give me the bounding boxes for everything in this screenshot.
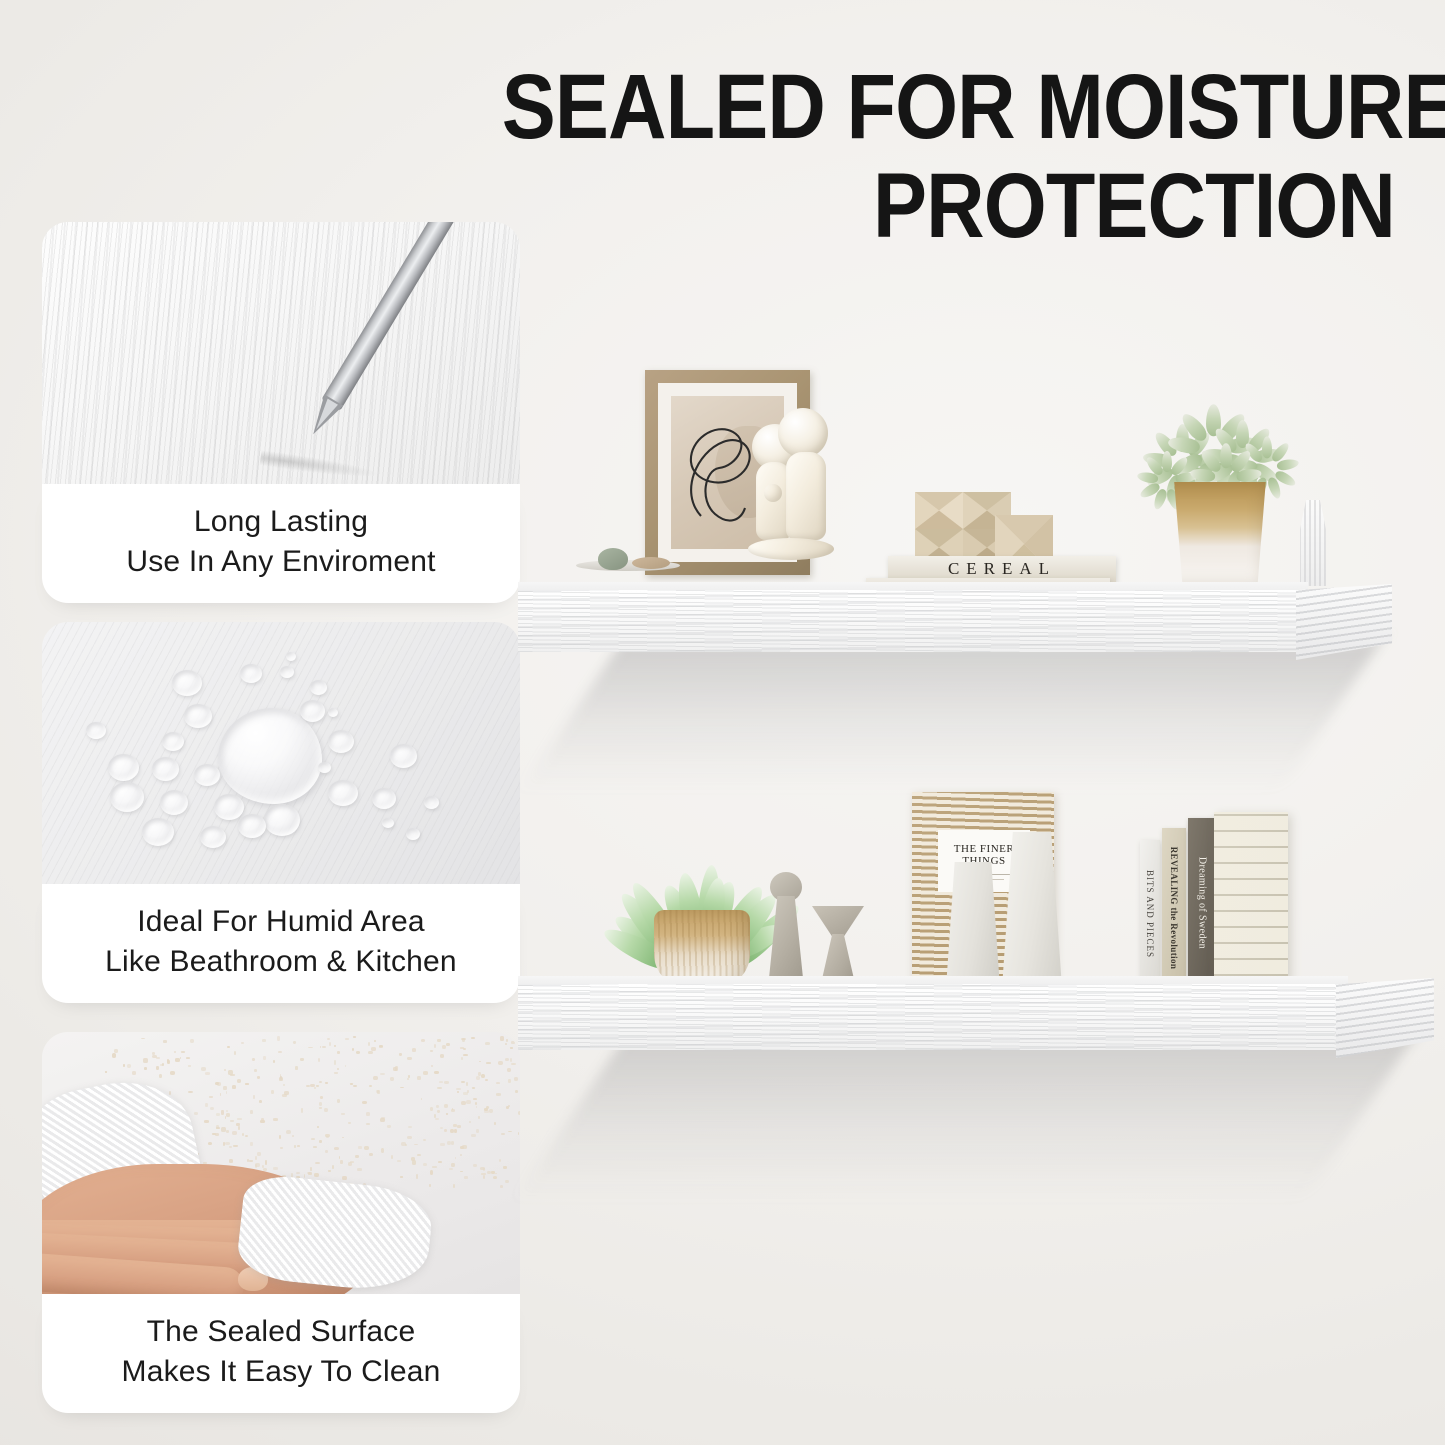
crumb bbox=[262, 1039, 266, 1042]
crumb bbox=[515, 1090, 517, 1093]
crumb bbox=[319, 1102, 322, 1106]
spine-title-sweden: Dreaming of Sweden bbox=[1197, 857, 1208, 949]
crumb bbox=[369, 1085, 372, 1087]
crumb bbox=[350, 1083, 353, 1085]
crumb bbox=[223, 1142, 225, 1146]
crumb bbox=[510, 1058, 512, 1062]
crumb bbox=[434, 1071, 439, 1074]
crumb bbox=[278, 1051, 282, 1054]
upper-shelf-front-edge bbox=[518, 590, 1308, 652]
caption-line-2: Use In Any Enviroment bbox=[52, 542, 510, 582]
crumb bbox=[476, 1076, 480, 1080]
crumb bbox=[253, 1095, 255, 1099]
lower-shelf-shadow bbox=[515, 1030, 1420, 1200]
small-tray-with-stone bbox=[576, 548, 680, 572]
crumb bbox=[503, 1166, 507, 1169]
crumb bbox=[358, 1146, 362, 1148]
crumb bbox=[273, 1060, 275, 1063]
crumb bbox=[479, 1061, 481, 1063]
crumb bbox=[460, 1171, 463, 1173]
crumb bbox=[318, 1058, 320, 1062]
crumb bbox=[435, 1118, 439, 1120]
crumb bbox=[292, 1135, 294, 1137]
crumb bbox=[334, 1060, 336, 1064]
crumb bbox=[308, 1047, 313, 1049]
water-droplet bbox=[240, 664, 262, 683]
crumb bbox=[514, 1077, 518, 1081]
crumb bbox=[254, 1069, 256, 1072]
crumb bbox=[230, 1120, 234, 1122]
crumb bbox=[310, 1167, 312, 1171]
crumb bbox=[322, 1046, 326, 1048]
crumb bbox=[280, 1147, 283, 1149]
crumb bbox=[227, 1046, 230, 1048]
feature-card-humid-area: Ideal For Humid Area Like Beathroom & Ki… bbox=[42, 622, 520, 1003]
crumb bbox=[245, 1135, 248, 1137]
water-droplet bbox=[390, 744, 417, 768]
headline-line-1: SEALED FOR MOISTURE bbox=[502, 56, 1445, 158]
crumb bbox=[114, 1049, 118, 1052]
feature-image-screwdriver bbox=[42, 222, 520, 484]
crumb bbox=[329, 1042, 332, 1046]
crumb bbox=[279, 1135, 281, 1139]
crumb bbox=[156, 1057, 160, 1059]
crumb bbox=[423, 1163, 428, 1166]
crumb bbox=[430, 1050, 433, 1052]
crumb bbox=[408, 1075, 410, 1078]
crumb bbox=[460, 1154, 462, 1156]
lower-shelf-front-edge bbox=[518, 984, 1348, 1050]
crumb bbox=[439, 1081, 443, 1083]
crumb bbox=[241, 1042, 244, 1045]
crumb bbox=[506, 1039, 508, 1042]
crumb bbox=[430, 1170, 434, 1174]
water-droplet bbox=[406, 828, 420, 840]
crumb bbox=[446, 1043, 450, 1046]
crumb bbox=[496, 1093, 501, 1095]
crumb bbox=[444, 1081, 449, 1084]
crumb bbox=[391, 1155, 393, 1158]
crumb bbox=[423, 1071, 428, 1074]
crumb bbox=[387, 1125, 390, 1128]
crumb bbox=[325, 1082, 328, 1084]
crumb bbox=[325, 1150, 328, 1153]
water-droplet bbox=[162, 732, 184, 751]
crumb bbox=[255, 1163, 259, 1167]
water-drop-icon bbox=[218, 708, 322, 804]
crumb bbox=[221, 1110, 223, 1114]
crumb bbox=[226, 1113, 230, 1117]
crumb bbox=[257, 1076, 261, 1079]
crumb bbox=[167, 1060, 170, 1064]
crumb bbox=[500, 1185, 503, 1187]
book-spine-revealing-the-revolution: REVEALING the Revolution bbox=[1162, 828, 1186, 988]
succulent-leaf bbox=[1220, 443, 1232, 468]
crumb bbox=[505, 1180, 508, 1184]
crumb bbox=[456, 1088, 461, 1090]
crumb bbox=[265, 1160, 267, 1164]
crumb bbox=[393, 1067, 397, 1071]
crumb bbox=[366, 1112, 370, 1116]
crumb bbox=[143, 1058, 147, 1062]
decorative-stone bbox=[598, 548, 628, 570]
crumb bbox=[159, 1074, 162, 1078]
crumb bbox=[449, 1168, 453, 1170]
crumb bbox=[232, 1085, 236, 1088]
lower-shelf-end-cap bbox=[1336, 978, 1434, 1058]
crumb bbox=[380, 1118, 384, 1122]
crumb bbox=[345, 1065, 347, 1067]
crumb bbox=[357, 1168, 362, 1171]
crumb bbox=[508, 1079, 511, 1083]
crumb bbox=[457, 1091, 459, 1094]
crumb bbox=[313, 1146, 317, 1148]
crumb bbox=[473, 1098, 477, 1100]
crumb bbox=[162, 1063, 164, 1067]
crumb bbox=[314, 1087, 316, 1090]
crumb bbox=[221, 1127, 225, 1131]
crumb bbox=[481, 1173, 486, 1175]
crumb bbox=[295, 1066, 298, 1070]
crumb bbox=[461, 1038, 466, 1041]
crumb bbox=[204, 1120, 209, 1123]
ceramic-vase-short bbox=[946, 862, 1000, 988]
crumb bbox=[225, 1142, 230, 1145]
crumb bbox=[431, 1065, 433, 1068]
succulent-leaf bbox=[1262, 436, 1272, 458]
crumb bbox=[261, 1118, 264, 1121]
crumb bbox=[407, 1057, 412, 1060]
crumb bbox=[518, 1132, 520, 1135]
crumb bbox=[353, 1036, 356, 1038]
crumb bbox=[205, 1072, 210, 1075]
crumb bbox=[440, 1054, 445, 1058]
crumb bbox=[463, 1048, 466, 1050]
crumb bbox=[356, 1051, 361, 1054]
crumb bbox=[334, 1045, 336, 1047]
crumb bbox=[320, 1096, 323, 1099]
crumb bbox=[245, 1083, 249, 1085]
crumb bbox=[491, 1171, 494, 1174]
water-droplet bbox=[200, 826, 226, 848]
crumb bbox=[511, 1041, 515, 1044]
crumb bbox=[411, 1157, 416, 1160]
crumb bbox=[229, 1159, 233, 1163]
crumb bbox=[249, 1160, 253, 1162]
water-droplet bbox=[280, 666, 294, 678]
crumb bbox=[423, 1139, 425, 1141]
ribbed-white-bottle-vase bbox=[1294, 500, 1332, 586]
crumb bbox=[297, 1145, 300, 1147]
crumb bbox=[319, 1081, 323, 1084]
crumb bbox=[273, 1118, 278, 1121]
water-droplet bbox=[328, 708, 338, 717]
crumb bbox=[282, 1094, 287, 1097]
crumb bbox=[286, 1130, 291, 1134]
crumb bbox=[381, 1148, 385, 1152]
caption-line-1: The Sealed Surface bbox=[52, 1312, 510, 1352]
crumb bbox=[237, 1079, 242, 1083]
crumb bbox=[326, 1136, 330, 1138]
water-droplet bbox=[424, 796, 439, 809]
crumb bbox=[144, 1067, 148, 1070]
crumb bbox=[475, 1102, 477, 1105]
crumb bbox=[277, 1036, 280, 1040]
crumb bbox=[442, 1045, 446, 1049]
gold-white-pot bbox=[1168, 482, 1272, 586]
crumb bbox=[127, 1064, 132, 1068]
crumb bbox=[337, 1099, 341, 1102]
crumb bbox=[484, 1110, 489, 1113]
crumb bbox=[447, 1141, 451, 1145]
crumb bbox=[308, 1172, 311, 1175]
crumb bbox=[283, 1084, 285, 1087]
crumb bbox=[314, 1173, 319, 1177]
crumb bbox=[478, 1116, 480, 1119]
crumb bbox=[190, 1039, 195, 1043]
crumb bbox=[471, 1134, 476, 1137]
crumb bbox=[238, 1126, 240, 1130]
crumb bbox=[436, 1105, 440, 1108]
water-droplet bbox=[328, 730, 354, 753]
crumb bbox=[506, 1106, 509, 1109]
figurine-body-right bbox=[786, 452, 826, 540]
crumb bbox=[453, 1124, 457, 1127]
crumb bbox=[175, 1058, 180, 1061]
book-spine-dreaming-of-sweden: Dreaming of Sweden bbox=[1188, 818, 1216, 988]
crumb bbox=[369, 1153, 373, 1156]
water-droplet bbox=[264, 804, 300, 836]
ribbed-cream-book-block bbox=[1214, 812, 1288, 992]
crumb bbox=[432, 1166, 437, 1168]
crumb bbox=[328, 1170, 331, 1172]
crumb bbox=[226, 1110, 228, 1112]
crumb bbox=[311, 1138, 315, 1140]
crumb bbox=[368, 1051, 373, 1054]
crumb bbox=[273, 1167, 277, 1170]
crumb bbox=[434, 1044, 436, 1048]
crumb bbox=[334, 1072, 338, 1074]
crumb bbox=[407, 1078, 409, 1080]
upper-shelf-end-cap bbox=[1296, 584, 1392, 660]
crumb bbox=[226, 1130, 229, 1132]
water-droplet bbox=[86, 722, 106, 739]
crumb bbox=[467, 1090, 469, 1093]
crumb bbox=[453, 1184, 455, 1188]
spine-title-revolution: REVEALING the Revolution bbox=[1169, 847, 1179, 970]
crumb bbox=[233, 1145, 238, 1147]
crumb bbox=[505, 1043, 507, 1045]
water-droplet bbox=[160, 790, 188, 815]
crumb bbox=[438, 1161, 442, 1163]
crumb bbox=[296, 1172, 300, 1175]
crumb bbox=[451, 1141, 455, 1145]
crumb bbox=[407, 1136, 411, 1139]
figurine-base bbox=[748, 538, 834, 560]
crumb bbox=[444, 1104, 449, 1108]
crumb bbox=[429, 1184, 431, 1187]
crumb bbox=[400, 1087, 405, 1089]
crumb bbox=[434, 1114, 436, 1118]
crumb bbox=[348, 1122, 351, 1124]
feature-caption-long-lasting: Long Lasting Use In Any Enviroment bbox=[42, 484, 520, 603]
crumb bbox=[478, 1072, 481, 1076]
crumb bbox=[501, 1133, 505, 1135]
crumb bbox=[210, 1107, 215, 1111]
crumb bbox=[324, 1108, 328, 1112]
crumb bbox=[341, 1113, 345, 1115]
feature-card-long-lasting: Long Lasting Use In Any Enviroment bbox=[42, 222, 520, 603]
crumb bbox=[417, 1154, 420, 1156]
crumb bbox=[476, 1106, 478, 1108]
crumb bbox=[353, 1085, 357, 1087]
upper-shelf-shadow bbox=[521, 640, 1382, 790]
product-marketing-image: SEALED FOR MOISTURE PROTECTION Long Last… bbox=[0, 0, 1445, 1445]
crumb bbox=[156, 1066, 159, 1070]
crumb bbox=[463, 1054, 468, 1056]
crumb bbox=[518, 1111, 520, 1115]
crumb bbox=[412, 1160, 416, 1164]
crumb bbox=[352, 1048, 354, 1051]
crumb bbox=[208, 1142, 213, 1145]
feature-caption-easy-clean: The Sealed Surface Makes It Easy To Clea… bbox=[42, 1294, 520, 1413]
water-droplet bbox=[372, 788, 396, 809]
crumb bbox=[366, 1123, 369, 1125]
crumb bbox=[209, 1096, 214, 1098]
crumb bbox=[508, 1131, 512, 1133]
crumb bbox=[201, 1067, 206, 1071]
crumb bbox=[224, 1069, 226, 1071]
crumb bbox=[440, 1143, 445, 1146]
crumb bbox=[444, 1129, 447, 1132]
crumb bbox=[364, 1146, 369, 1150]
crumb bbox=[337, 1068, 339, 1071]
crumb bbox=[236, 1123, 240, 1126]
crumb bbox=[319, 1140, 322, 1142]
crumb bbox=[381, 1117, 385, 1119]
crumb bbox=[255, 1156, 257, 1160]
crumb bbox=[412, 1048, 416, 1052]
crumb bbox=[217, 1082, 221, 1086]
crumb bbox=[417, 1076, 421, 1079]
crumb bbox=[170, 1071, 175, 1075]
crumb bbox=[511, 1063, 516, 1065]
crumb bbox=[489, 1109, 493, 1113]
crumb bbox=[216, 1125, 219, 1129]
crumb bbox=[229, 1146, 233, 1148]
crumb bbox=[250, 1110, 253, 1114]
spine-title-bits: BITS AND PIECES bbox=[1145, 870, 1155, 958]
crumb bbox=[466, 1100, 471, 1104]
crumb bbox=[471, 1037, 474, 1039]
crumb bbox=[230, 1074, 235, 1076]
crumb bbox=[462, 1145, 467, 1149]
crumb bbox=[300, 1058, 304, 1061]
crumb bbox=[455, 1157, 457, 1159]
water-droplet bbox=[214, 794, 244, 820]
crumb bbox=[437, 1039, 440, 1042]
succulent-plant bbox=[1148, 392, 1288, 488]
water-droplet bbox=[286, 652, 296, 661]
water-droplet bbox=[172, 670, 202, 696]
crumb bbox=[327, 1038, 330, 1041]
water-droplet bbox=[108, 754, 139, 781]
crumb bbox=[188, 1091, 193, 1093]
water-droplet bbox=[318, 762, 331, 773]
crumb bbox=[483, 1175, 485, 1179]
crumb bbox=[499, 1159, 501, 1162]
crumb bbox=[476, 1129, 479, 1133]
crumb bbox=[355, 1155, 359, 1158]
crumb bbox=[263, 1056, 266, 1059]
crumb bbox=[461, 1101, 466, 1105]
crumb bbox=[242, 1133, 244, 1136]
feature-caption-humid-area: Ideal For Humid Area Like Beathroom & Ki… bbox=[42, 884, 520, 1003]
crumb bbox=[342, 1137, 344, 1139]
crumb bbox=[373, 1076, 377, 1080]
crumb bbox=[301, 1108, 303, 1112]
crumb bbox=[496, 1082, 500, 1084]
pearl-head-right bbox=[778, 408, 828, 458]
crumb bbox=[112, 1053, 117, 1057]
crumb bbox=[337, 1051, 340, 1053]
crumb bbox=[105, 1071, 107, 1073]
crumb bbox=[332, 1165, 335, 1169]
crumb bbox=[494, 1122, 496, 1124]
crumb bbox=[234, 1051, 237, 1055]
crumb bbox=[271, 1090, 274, 1094]
crumb bbox=[293, 1041, 296, 1044]
crumb bbox=[317, 1126, 319, 1128]
crumb bbox=[205, 1103, 208, 1107]
feature-card-easy-clean: The Sealed Surface Makes It Easy To Clea… bbox=[42, 1032, 520, 1413]
crumb bbox=[315, 1162, 320, 1165]
crumb bbox=[485, 1042, 490, 1045]
crumb bbox=[340, 1160, 343, 1164]
crumb bbox=[257, 1152, 260, 1155]
crumb bbox=[461, 1081, 465, 1083]
water-droplet bbox=[238, 814, 266, 838]
crumb bbox=[451, 1109, 456, 1111]
headline-line-2: PROTECTION bbox=[502, 157, 1395, 256]
crumb bbox=[399, 1053, 402, 1056]
crumb bbox=[414, 1144, 418, 1146]
crumb bbox=[362, 1101, 367, 1104]
crumb bbox=[400, 1176, 402, 1178]
crumb bbox=[500, 1036, 504, 1040]
crumb bbox=[454, 1129, 457, 1133]
crumb bbox=[380, 1073, 385, 1075]
crumb bbox=[132, 1071, 136, 1075]
crumb bbox=[440, 1127, 443, 1130]
crumb bbox=[430, 1107, 433, 1111]
crumb bbox=[123, 1064, 125, 1066]
crumb bbox=[216, 1113, 221, 1116]
taupe-candle-holder-tall bbox=[766, 872, 806, 988]
crumb bbox=[339, 1156, 341, 1159]
water-droplet bbox=[310, 680, 327, 695]
crumb bbox=[495, 1173, 497, 1175]
crumb bbox=[252, 1058, 255, 1061]
crumb bbox=[259, 1100, 262, 1104]
crumb bbox=[226, 1091, 228, 1094]
crumb bbox=[306, 1085, 310, 1087]
feature-image-water-droplets bbox=[42, 622, 520, 884]
crumb bbox=[163, 1040, 167, 1043]
crumb bbox=[421, 1039, 425, 1042]
crumb bbox=[485, 1079, 489, 1082]
crumb bbox=[390, 1077, 394, 1081]
